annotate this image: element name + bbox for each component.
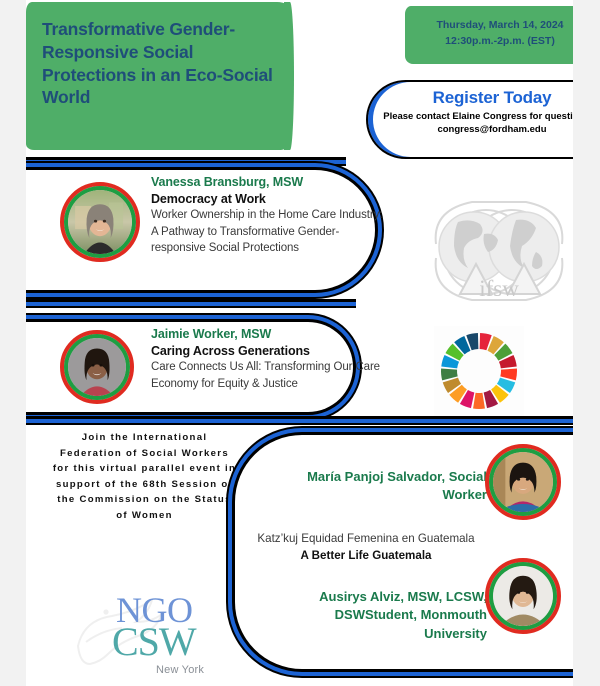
avatar <box>485 444 561 520</box>
event-flyer: Transformative Gender-Responsive Social … <box>26 0 573 686</box>
divider-stripe <box>26 157 346 166</box>
speaker-org: Democracy at Work <box>151 191 391 208</box>
speaker-photo-maria <box>493 452 553 512</box>
speaker-text: Vanessa Bransburg, MSW Democracy at Work… <box>151 174 391 256</box>
join-description: Join the International Federation of Soc… <box>52 430 237 523</box>
avatar <box>60 330 134 404</box>
avatar <box>485 558 561 634</box>
divider-stripe <box>26 416 573 425</box>
register-heading: Register Today <box>382 88 573 108</box>
speaker-name: Vanessa Bransburg, MSW <box>151 174 391 191</box>
event-time: 12:30p.m.-2p.m. (EST) <box>405 33 573 49</box>
speaker-description: Care Connects Us All: Transforming Our C… <box>151 359 386 392</box>
divider-stripe <box>26 299 356 308</box>
register-contact-note: Please contact Elaine Congress for quest… <box>382 110 573 136</box>
panel-org: Katz’kuj Equidad Femenina en Guatemala A… <box>241 531 491 565</box>
ifsw-logo: ifsw <box>424 192 573 310</box>
sdg-wheel-icon <box>434 326 524 416</box>
speaker-org: Caring Across Generations <box>151 343 386 360</box>
ifsw-logo-text: ifsw <box>479 276 519 301</box>
page-title: Transformative Gender-Responsive Social … <box>42 18 278 109</box>
register-callout[interactable]: Register Today Please contact Elaine Con… <box>366 80 573 159</box>
speaker-photo-ausirys <box>493 566 553 626</box>
speaker-text: Jaimie Worker, MSW Caring Across Generat… <box>151 326 386 392</box>
avatar <box>60 182 140 262</box>
panel-org-line-1: Katz’kuj Equidad Femenina en Guatemala <box>241 531 491 548</box>
speaker-photo-jaimie <box>68 338 126 396</box>
sdg-segment <box>473 393 485 409</box>
ngo-csw-logo: NGO CSW New York <box>82 584 242 684</box>
speaker-name: Jaimie Worker, MSW <box>151 326 386 343</box>
panel-org-line-2: A Better Life Guatemala <box>241 548 491 565</box>
logo-subtitle: New York <box>156 664 204 676</box>
speaker-description: Worker Ownership in the Home Care Indust… <box>151 207 391 256</box>
csw-logo-text: CSW <box>112 622 196 662</box>
panel-speaker-name-2: Ausirys Alviz, MSW, LCSW, DSWStudent, Mo… <box>271 588 487 643</box>
event-date: Thursday, March 14, 2024 <box>405 17 573 33</box>
speaker-photo-vanessa <box>68 190 132 254</box>
panel-speaker-name-1: María Panjoj Salvador, Social Worker <box>292 468 487 505</box>
event-datetime-banner: Thursday, March 14, 2024 12:30p.m.-2p.m.… <box>405 6 573 64</box>
